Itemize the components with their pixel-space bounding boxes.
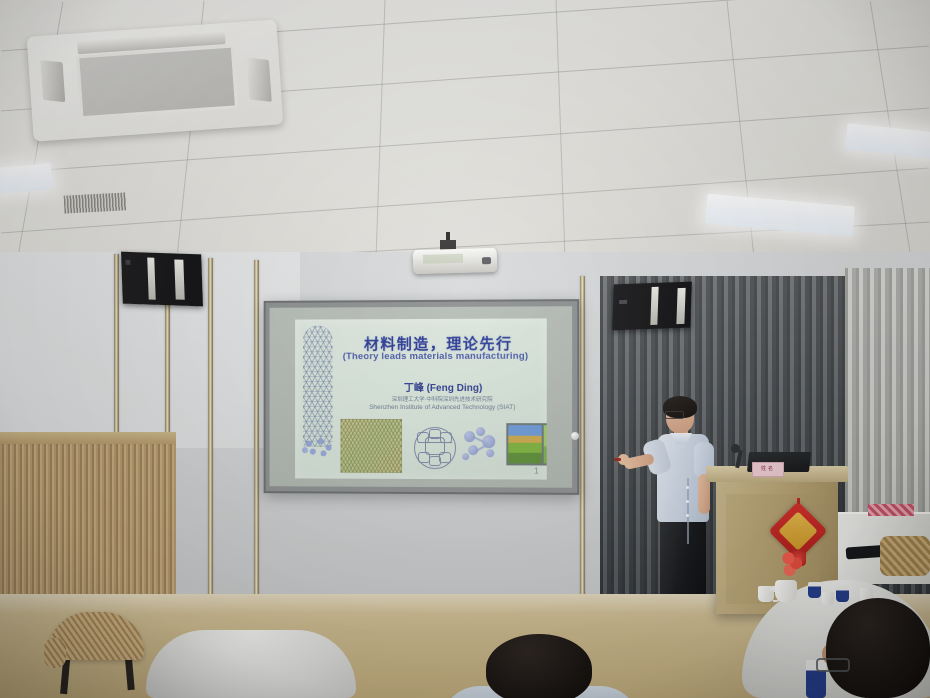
slide-title-english: (Theory leads materials manufacturing) [295,351,547,363]
wall-fixture-dot [571,432,579,440]
flower-arrangement [778,548,804,582]
ceiling-light-panel-left [0,163,53,195]
wall-trim-strip [254,260,259,602]
slide-affiliation-english: Shenzhen Institute of Advanced Technolog… [295,404,547,411]
ceiling-projector [413,248,498,274]
ceiling [0,0,930,258]
ac-vent-right [247,58,272,102]
nanotube-cluster-graphic [299,435,338,461]
presentation-slide: 材料制造，理论先行 (Theory leads materials manufa… [295,318,547,479]
slide-affiliation-chinese: 深圳理工大学·中科院深圳先进技术研究院 [295,395,547,403]
decorative-box [868,504,914,516]
molecular-cluster-graphic [462,425,502,467]
podium-name-card: 姓名 [752,462,784,477]
lecture-room-photo: 材料制造，理论先行 (Theory leads materials manufa… [0,0,930,698]
fullerene-c60-graphic [414,427,456,469]
round-table-left [146,630,356,698]
cup-white-1 [822,592,834,605]
ceiling-air-vent [61,190,128,215]
microphone-head-icon [731,444,740,453]
cup-blue-2 [836,586,849,602]
wicker-basket [880,536,930,576]
screen-surface: 材料制造，理论先行 (Theory leads materials manufa… [270,306,573,488]
audience-head-center [486,634,592,698]
glasses-icon [665,411,684,419]
ac-vent-left [40,60,65,102]
laser-pointer [614,458,621,461]
simulation-image-panels [506,423,546,465]
teapot [775,580,797,602]
projection-screen: 材料制造，理论先行 (Theory leads materials manufa… [264,299,580,495]
rattan-armrest [44,638,66,668]
ceiling-air-conditioner [27,19,284,141]
ceiling-light-panel-right [705,194,855,237]
graphene-sheet-graphic [340,419,402,473]
slide-author: 丁峰 (Feng Ding) [295,379,547,394]
wall-speaker-left [121,252,203,307]
wall-trim-strip [580,276,585,606]
slide-page-number: 1 [534,466,539,475]
projector-lens [482,257,491,264]
cup-blue-1 [808,582,821,598]
simulation-panel-left [508,425,541,463]
simulation-panel-right [544,425,547,463]
audience-head-right [826,598,930,698]
audience-glasses-icon [816,658,850,672]
ceiling-light-panel-far-right [845,123,930,159]
wall-trim-strip [208,258,213,604]
ac-grille [76,44,238,119]
wood-wainscot [0,444,176,594]
wall-speaker-right [612,282,692,331]
projector-label [423,254,463,264]
